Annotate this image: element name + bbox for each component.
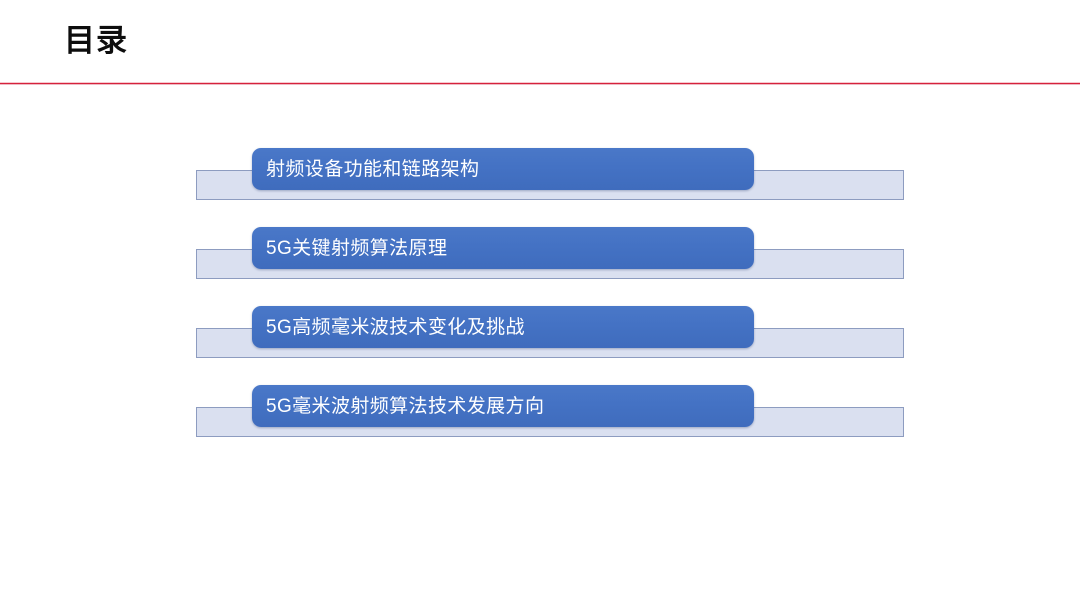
- toc-item-1-pill[interactable]: 射频设备功能和链路架构: [252, 148, 754, 190]
- toc-item-4[interactable]: 5G毫米波射频算法技术发展方向: [196, 385, 906, 463]
- toc-item-1-label: 射频设备功能和链路架构: [252, 160, 479, 179]
- toc-item-2-label: 5G关键射频算法原理: [252, 239, 447, 258]
- toc-item-3[interactable]: 5G高频毫米波技术变化及挑战: [196, 306, 906, 384]
- toc-item-2[interactable]: 5G关键射频算法原理: [196, 227, 906, 305]
- toc-item-1[interactable]: 射频设备功能和链路架构: [196, 148, 906, 226]
- toc-item-2-pill[interactable]: 5G关键射频算法原理: [252, 227, 754, 269]
- table-of-contents: 射频设备功能和链路架构 5G关键射频算法原理 5G高频毫米波技术变化及挑战 5G…: [0, 0, 1080, 608]
- toc-item-3-label: 5G高频毫米波技术变化及挑战: [252, 318, 525, 337]
- toc-item-3-pill[interactable]: 5G高频毫米波技术变化及挑战: [252, 306, 754, 348]
- toc-item-4-label: 5G毫米波射频算法技术发展方向: [252, 397, 544, 416]
- toc-item-4-pill[interactable]: 5G毫米波射频算法技术发展方向: [252, 385, 754, 427]
- slide-canvas: 目录 射频设备功能和链路架构 5G关键射频算法原理 5G高频毫米波技术变化及挑战…: [0, 0, 1080, 608]
